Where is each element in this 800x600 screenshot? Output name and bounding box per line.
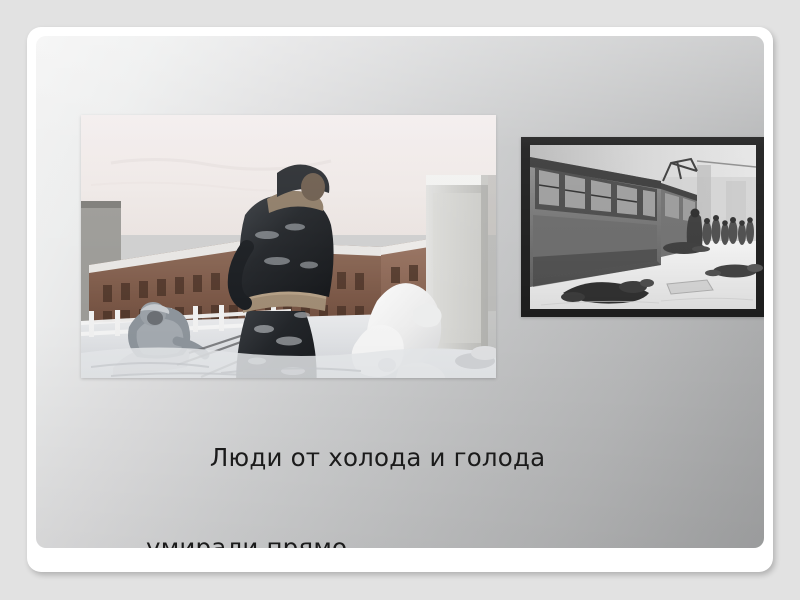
slide-caption: Люди от холода и голода умирали прямо на…	[146, 413, 666, 548]
slide-content-panel: Люди от холода и голода умирали прямо на…	[36, 36, 764, 548]
winter-street-sled-photo[interactable]	[81, 115, 496, 378]
winter-street-sled-image	[81, 115, 496, 378]
caption-line-2: умирали прямо	[146, 533, 666, 548]
tram-bodies-snow-photo[interactable]	[521, 137, 764, 317]
tram-bodies-snow-image	[521, 137, 764, 317]
caption-line-1: Люди от холода и голода	[210, 443, 545, 472]
slide-card: Люди от холода и голода умирали прямо на…	[27, 27, 773, 572]
slide-stage: Люди от холода и голода умирали прямо на…	[0, 0, 800, 600]
slide-footer-strip	[36, 548, 764, 563]
